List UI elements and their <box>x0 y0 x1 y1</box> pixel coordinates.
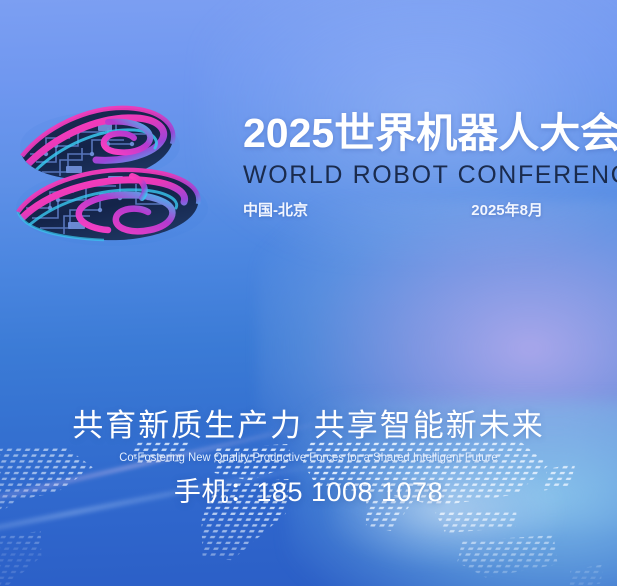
slogan-block: 共育新质生产力 共享智能新未来 Co-Fostering New Quality… <box>0 400 617 464</box>
page-title-en: WORLD ROBOT CONFERENCE <box>243 162 601 188</box>
contact-phone: 手机：185 1008 1078 <box>0 470 617 509</box>
wrc-ribbon-circuit-logo <box>12 88 238 260</box>
headline-meta-row: 中国-北京 2025年8月 <box>243 199 543 220</box>
headline-block: 2025世界机器人大会 WORLD ROBOT CONFERENCE 中国-北京… <box>243 112 601 220</box>
page-title-cn: 2025世界机器人大会 <box>243 112 601 155</box>
wrc-2025-poster: 2025世界机器人大会 WORLD ROBOT CONFERENCE 中国-北京… <box>0 0 617 586</box>
event-date: 2025年8月 <box>471 199 543 220</box>
slogan-en: Co-Fostering New Quality Productive Forc… <box>22 450 596 464</box>
event-location: 中国-北京 <box>243 199 308 220</box>
slogan-cn: 共育新质生产力 共享智能新未来 <box>0 400 617 445</box>
